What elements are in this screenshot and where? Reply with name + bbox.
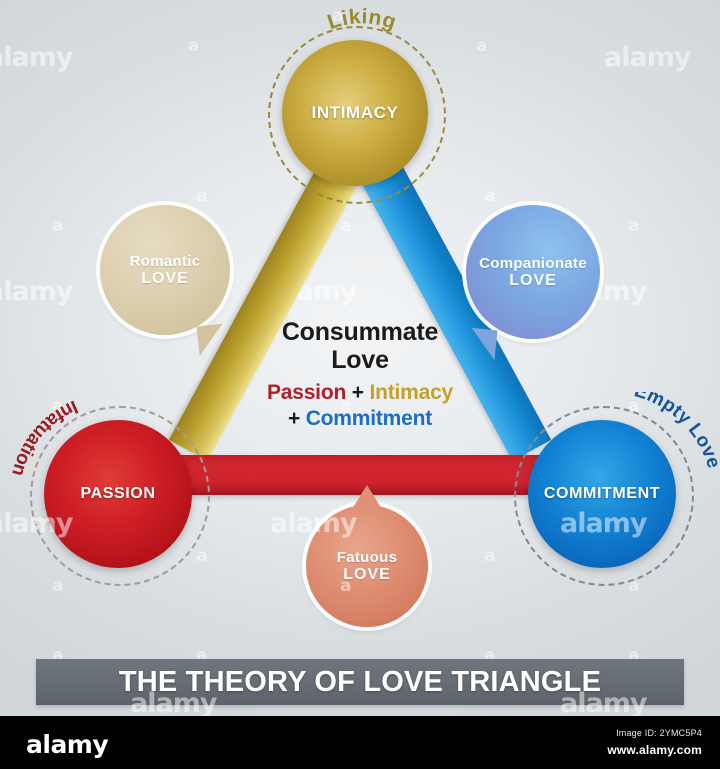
watermark-letter: a — [52, 398, 63, 415]
title-banner-text: THE THEORY OF LOVE TRIANGLE — [119, 666, 601, 699]
center-heading-line2: Love — [236, 346, 484, 374]
vertex-label-intimacy: INTIMACY — [312, 103, 399, 123]
vertex-commitment[interactable]: COMMITMENT — [528, 420, 676, 568]
formula-term-intimacy: Intimacy — [369, 381, 453, 404]
bubble-label-line1: Fatuous — [337, 549, 397, 566]
bubble-label-line2: LOVE — [509, 272, 557, 290]
formula-term-passion: Passion — [267, 381, 346, 404]
watermark-letter: a — [476, 38, 487, 55]
watermark-letter: a — [52, 578, 63, 595]
center-formula-line1: Passion + Intimacy — [236, 381, 484, 405]
vertex-intimacy[interactable]: INTIMACY — [282, 40, 428, 186]
watermark-letter: a — [52, 218, 63, 235]
screenshot-root: alamy a a a alamy a a a a a alamy alamy … — [0, 0, 720, 769]
watermark-word: alamy — [0, 44, 72, 71]
formula-plus-1: + — [352, 381, 364, 404]
watermark-letter: a — [196, 548, 207, 565]
alamy-logo: alamy — [26, 730, 108, 759]
alamy-footer-bar: alamy Image ID: 2YMC5P4 www.alamy.com — [0, 716, 720, 769]
formula-plus-2: + — [288, 407, 300, 430]
center-formula-line2: + Commitment — [236, 407, 484, 431]
bubble-tail — [197, 324, 226, 357]
bubble-romantic-love[interactable]: Romantic LOVE — [100, 205, 230, 335]
formula-term-commitment: Commitment — [306, 407, 432, 430]
bubble-label-line1: Companionate — [479, 255, 587, 272]
watermark-letter: a — [340, 218, 351, 235]
watermark-letter: a — [332, 8, 343, 25]
watermark-letter: a — [628, 398, 639, 415]
watermark-letter: a — [628, 218, 639, 235]
center-text-block: Consummate Love Passion + Intimacy + Com… — [236, 318, 484, 430]
footer-image-id: Image ID: 2YMC5P4 — [616, 728, 702, 738]
watermark-word: alamy — [0, 278, 72, 305]
bubble-fatuous-love[interactable]: Fatuous LOVE — [306, 505, 428, 627]
caption-liking-text: Liking — [325, 6, 400, 34]
watermark-letter: a — [484, 548, 495, 565]
svg-text:Liking: Liking — [325, 6, 400, 34]
title-banner: THE THEORY OF LOVE TRIANGLE — [36, 659, 684, 705]
watermark-word: alamy — [604, 44, 690, 71]
watermark-letter: a — [484, 188, 495, 205]
center-heading-line1: Consummate — [236, 318, 484, 346]
bubble-companionate-love[interactable]: Companionate LOVE — [466, 205, 600, 339]
vertex-passion[interactable]: PASSION — [44, 420, 192, 568]
bubble-label-line2: LOVE — [141, 270, 189, 288]
bubble-label-line1: Romantic — [130, 253, 201, 270]
watermark-letter: a — [196, 188, 207, 205]
bubble-label-line2: LOVE — [343, 566, 391, 584]
vertex-label-commitment: COMMITMENT — [544, 485, 660, 503]
bubble-tail — [352, 485, 382, 509]
watermark-letter: a — [188, 38, 199, 55]
watermark-letter: a — [628, 578, 639, 595]
vertex-label-passion: PASSION — [80, 485, 155, 503]
bubble-tail — [469, 328, 498, 361]
diagram-artboard: alamy a a a alamy a a a a a alamy alamy … — [0, 0, 720, 716]
footer-url[interactable]: www.alamy.com — [607, 743, 702, 757]
